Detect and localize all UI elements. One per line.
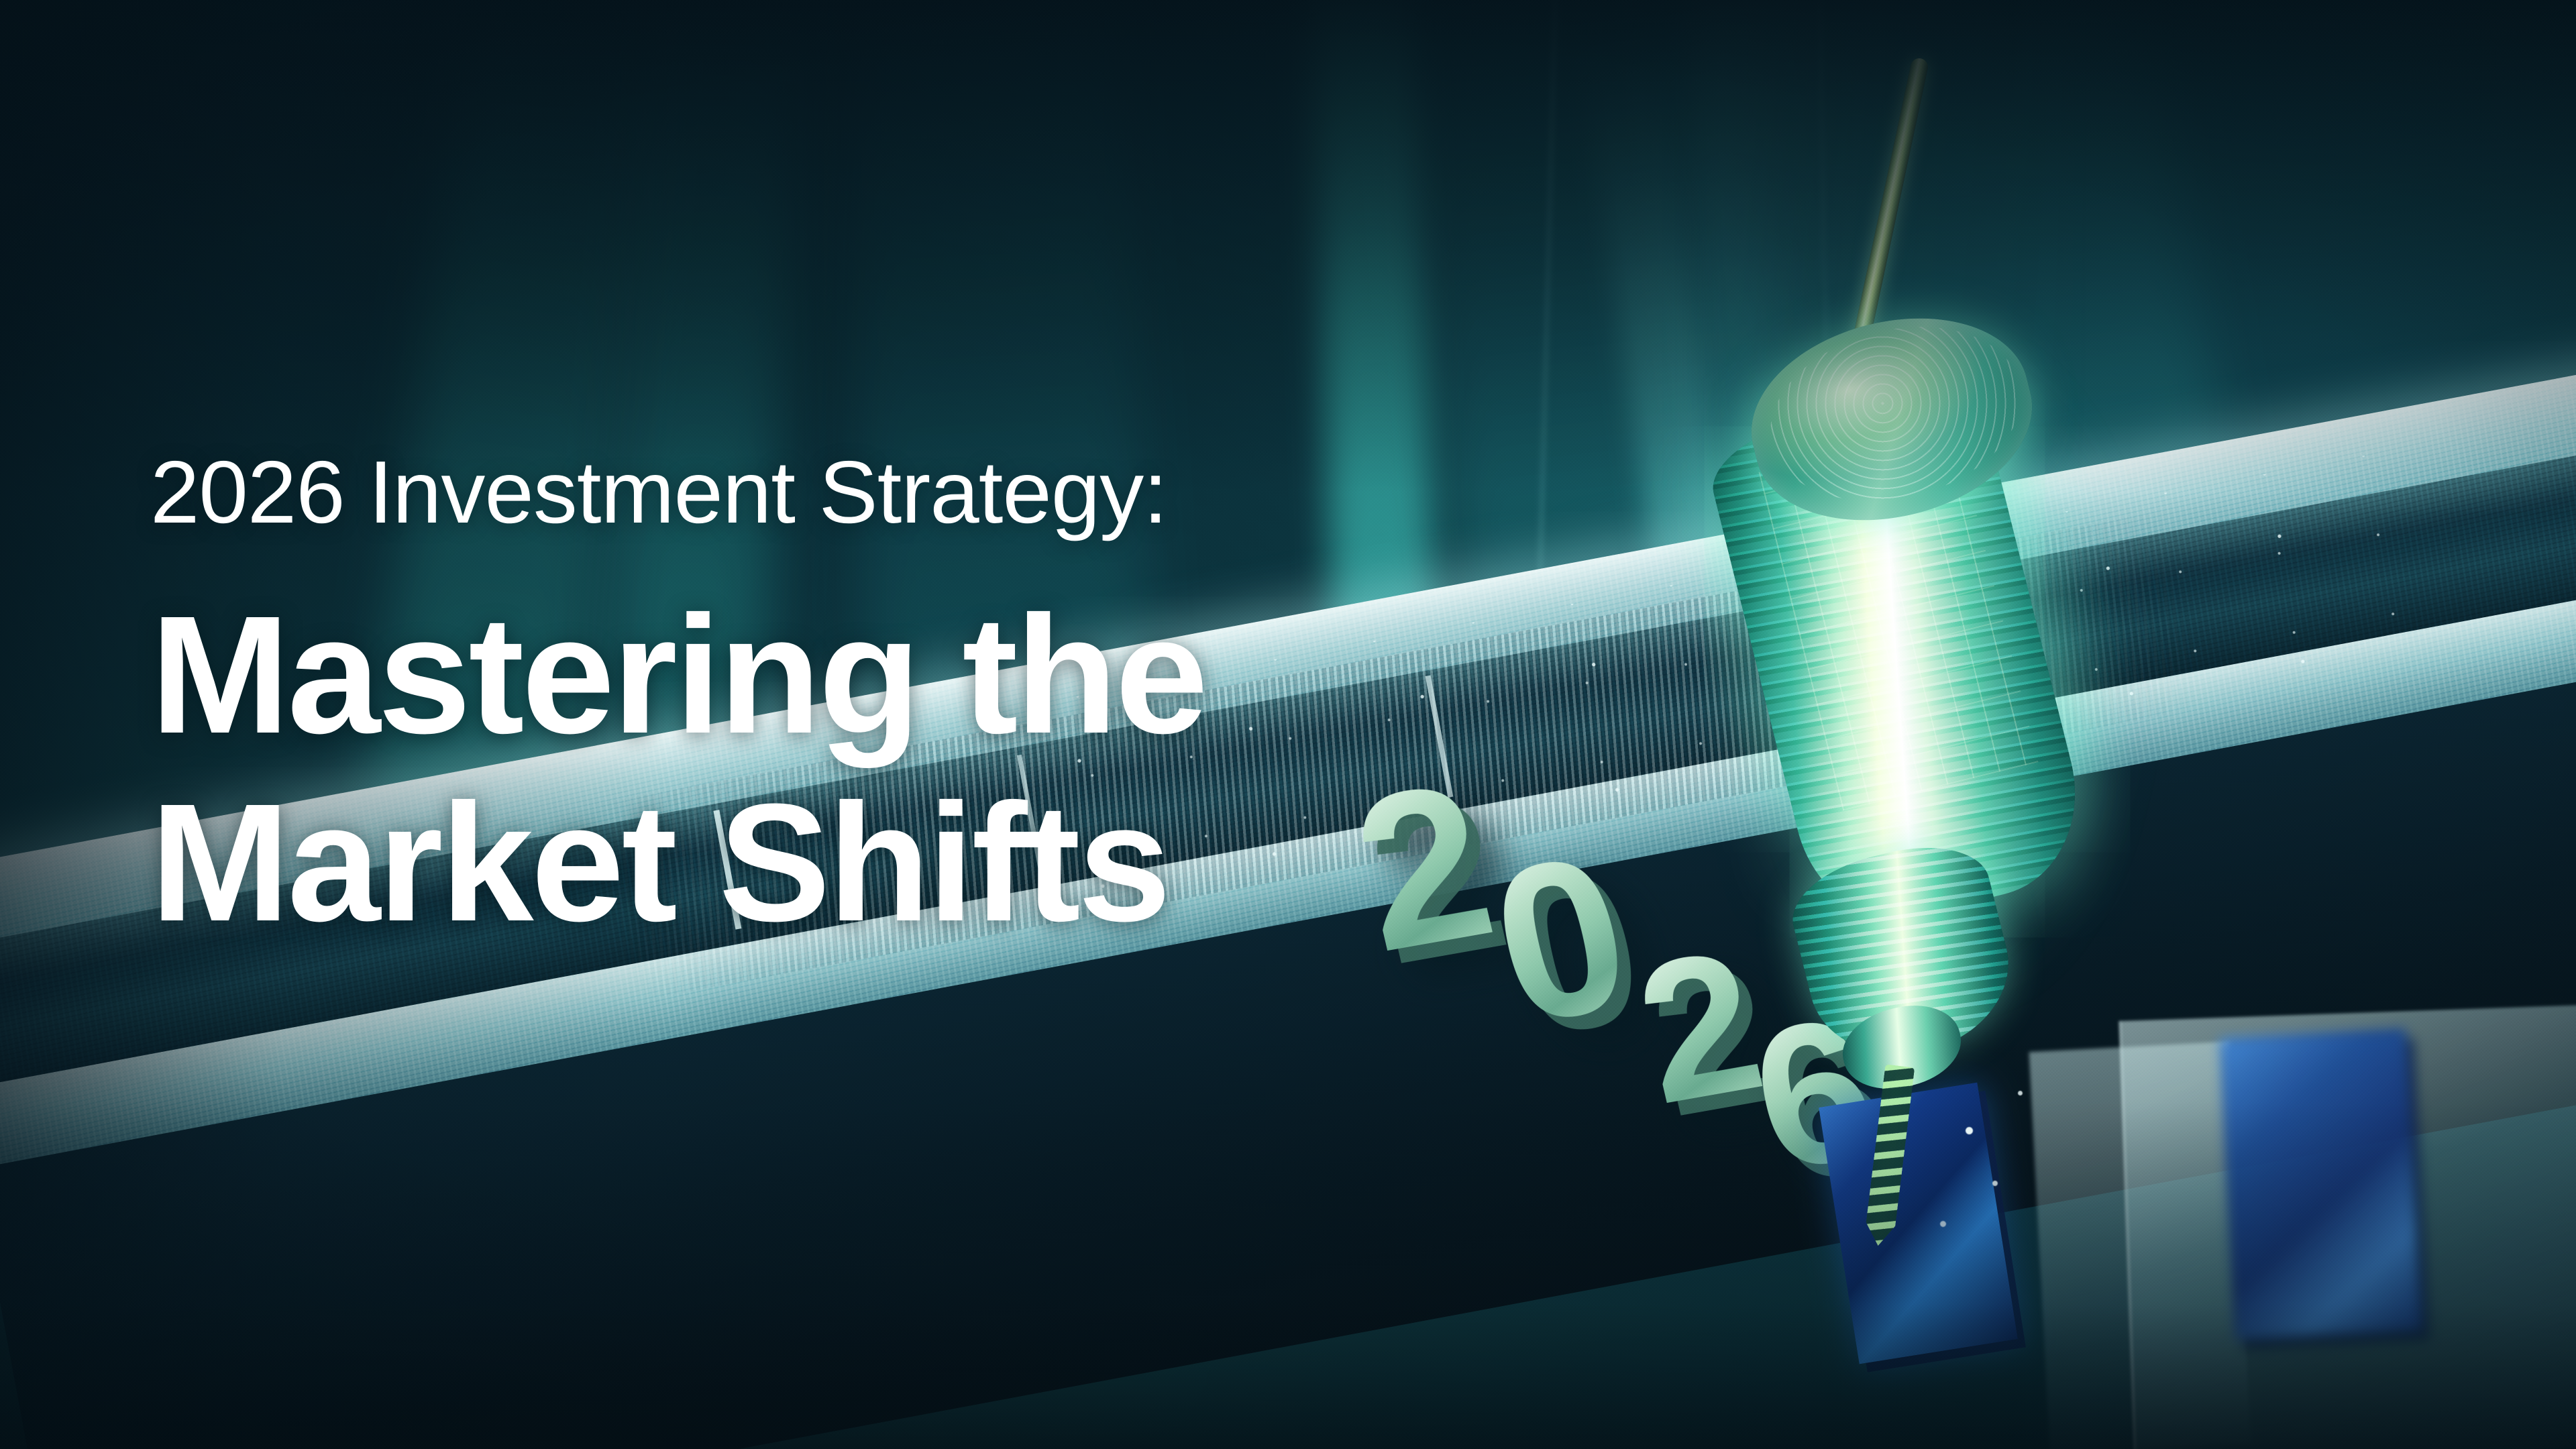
eyebrow-text: 2026 Investment Strategy:	[150, 443, 1425, 542]
hero-copy: 2026 Investment Strategy: Mastering the …	[150, 443, 1425, 957]
yen-symbol: ¥	[2219, 1028, 2421, 1340]
page-title: Mastering the Market Shifts	[150, 581, 1425, 957]
numeral-0: 0	[1481, 842, 1642, 1036]
headline-line-2: Market Shifts	[150, 769, 1425, 957]
hero-banner: 2 0 2 6 ¥ € 2026 Investment Strategy: Ma…	[0, 0, 2576, 1449]
headline-line-1: Mastering the	[150, 581, 1425, 769]
glowing-drill-tool	[1704, 80, 2214, 1181]
